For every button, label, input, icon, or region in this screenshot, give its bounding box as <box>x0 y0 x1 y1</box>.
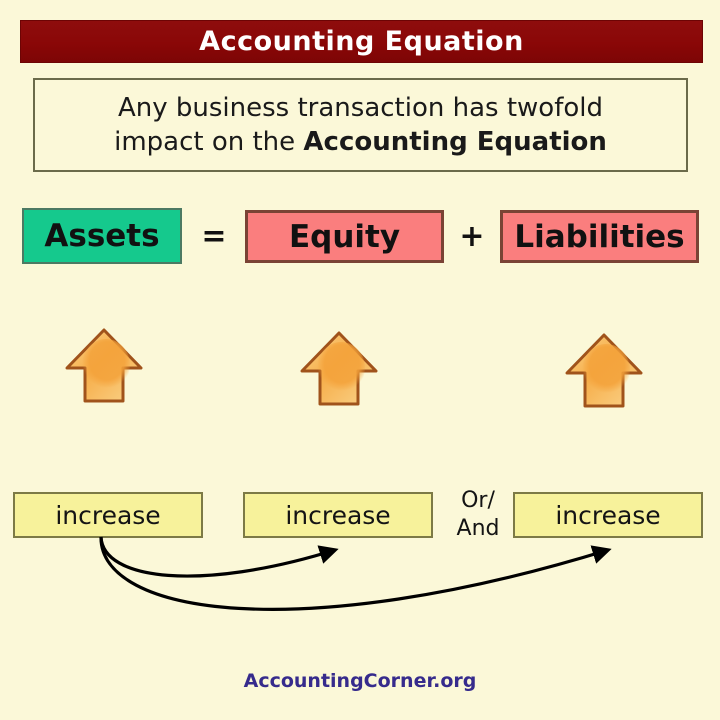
equation-term-liabilities[interactable]: Liabilities <box>500 210 699 263</box>
equation-term-equity[interactable]: Equity <box>245 210 444 263</box>
connector-arrows <box>0 440 720 660</box>
statement-line-2: impact on the Accounting Equation <box>114 125 607 159</box>
footer-site-link[interactable]: AccountingCorner.org <box>0 670 720 692</box>
page-title: Accounting Equation <box>199 26 524 57</box>
equation-term-assets-label: Assets <box>44 218 159 254</box>
statement-box: Any business transaction has twofold imp… <box>33 78 688 172</box>
connector-assets-to-equity <box>101 537 335 576</box>
equation-term-assets[interactable]: Assets <box>22 208 182 264</box>
equation-term-liabilities-label: Liabilities <box>514 219 684 255</box>
statement-line-2-prefix: impact on the <box>114 127 303 157</box>
up-arrow-icon-equity <box>299 330 379 408</box>
header-title-bar: Accounting Equation <box>20 20 703 63</box>
equation-operator-equals: = <box>196 210 232 263</box>
statement-line-1: Any business transaction has twofold <box>118 91 603 125</box>
statement-line-2-emphasis: Accounting Equation <box>303 127 606 157</box>
infographic-canvas: Accounting Equation Any business transac… <box>0 0 720 720</box>
equation-operator-plus: + <box>455 210 489 263</box>
up-arrow-icon-assets <box>64 327 144 405</box>
connector-assets-to-liabilities <box>101 537 608 609</box>
up-arrow-icon-liabilities <box>564 332 644 410</box>
equation-term-equity-label: Equity <box>289 219 400 255</box>
